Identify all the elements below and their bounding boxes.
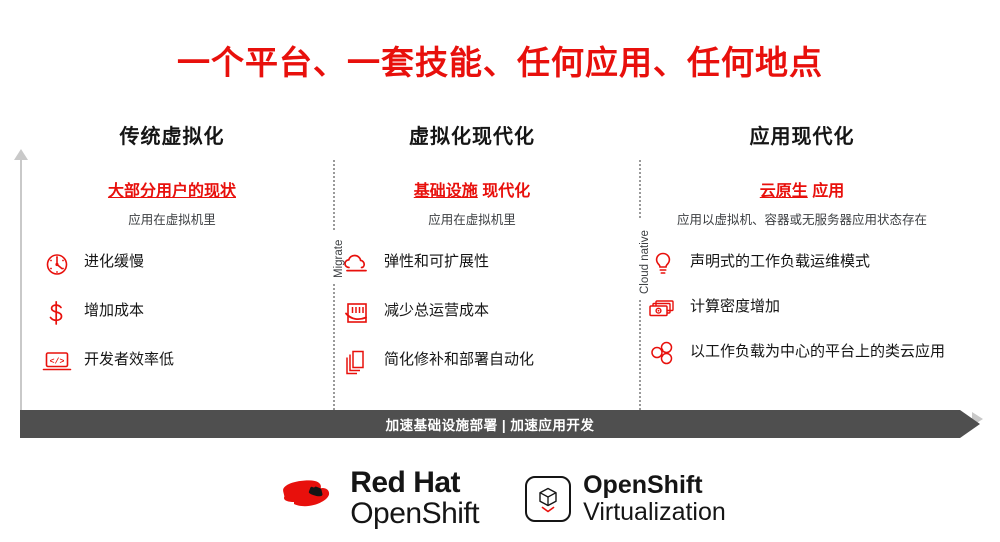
- column-subtitle: 大部分用户的现状: [28, 177, 316, 201]
- list-item-label: 进化缓慢: [74, 250, 144, 272]
- redhat-logo-line2: OpenShift: [350, 499, 479, 530]
- list-item: 计算密度增加: [646, 295, 976, 324]
- column-heading: 传统虚拟化: [28, 120, 316, 149]
- logo-row: Red Hat OpenShift OpenShift Virtualizati…: [0, 455, 1000, 542]
- redhat-openshift-logo: Red Hat OpenShift: [274, 468, 479, 529]
- progress-banner-arrowhead: [960, 410, 980, 438]
- progress-banner: 加速基础设施部署 | 加速应用开发: [20, 410, 960, 438]
- list-item: 声明式的工作负载运维模式: [646, 250, 976, 279]
- list-item-label: 增加成本: [74, 299, 144, 321]
- list-item: 弹性和可扩展性: [340, 250, 616, 279]
- maturity-columns: 传统虚拟化 大部分用户的现状 应用在虚拟机里: [22, 118, 982, 408]
- svg-text:</>: </>: [50, 356, 65, 366]
- column-subtitle-underlined: 基础设施: [414, 183, 478, 200]
- list-item-label: 声明式的工作负载运维模式: [680, 250, 870, 272]
- list-item-label: 开发者效率低: [74, 348, 174, 370]
- column-description: 应用以虚拟机、容器或无服务器应用状态存在: [628, 209, 976, 228]
- divider-label-cloud-native: Cloud native: [639, 230, 651, 294]
- redhat-logo-line1: Red Hat: [350, 468, 479, 499]
- openshift-virtualization-logo: OpenShift Virtualization: [525, 472, 726, 525]
- column-virtualization-modernization: 虚拟化现代化 基础设施 现代化 应用在虚拟机里 弹性和可扩展性: [322, 118, 622, 408]
- list-item-label: 计算密度增加: [680, 295, 780, 317]
- banknotes-icon: [646, 294, 680, 324]
- column-item-list: 弹性和可扩展性 减少总运营成本: [328, 250, 616, 377]
- cost-down-chart-icon: [340, 298, 374, 328]
- column-subtitle: 基础设施 现代化: [328, 177, 616, 201]
- osv-logo-line1: OpenShift: [583, 472, 726, 498]
- redhat-openshift-wordmark: Red Hat OpenShift: [350, 468, 479, 529]
- column-description: 应用在虚拟机里: [28, 209, 316, 228]
- column-description: 应用在虚拟机里: [328, 209, 616, 228]
- dollar-icon: [40, 298, 74, 328]
- divider-migrate: [333, 160, 337, 410]
- list-item: 进化缓慢: [40, 250, 316, 279]
- redhat-fedora-icon: [274, 472, 340, 525]
- divider-label-migrate: Migrate: [333, 240, 345, 278]
- list-item: 简化修补和部署自动化: [340, 348, 616, 377]
- list-item: </> 开发者效率低: [40, 348, 316, 377]
- openshift-virtualization-wordmark: OpenShift Virtualization: [583, 472, 726, 525]
- column-subtitle-underlined: 云原生: [760, 183, 808, 200]
- list-item-label: 弹性和可扩展性: [374, 250, 489, 272]
- column-subtitle-plain: 现代化: [478, 183, 530, 200]
- column-subtitle-underlined: 大部分用户的现状: [108, 183, 236, 200]
- list-item: 以工作负载为中心的平台上的类云应用: [646, 340, 976, 369]
- column-item-list: 进化缓慢 增加成本 </>: [28, 250, 316, 377]
- column-subtitle: 云原生 应用: [628, 177, 976, 201]
- clock-icon: [40, 249, 74, 279]
- column-application-modernization: 应用现代化 云原生 应用 应用以虚拟机、容器或无服务器应用状态存在 声明式的工作…: [622, 118, 982, 408]
- code-laptop-icon: </>: [40, 347, 74, 377]
- list-item-label: 减少总运营成本: [374, 299, 489, 321]
- cloud-icon: [340, 249, 374, 279]
- column-item-list: 声明式的工作负载运维模式 计算密度增加: [628, 250, 976, 369]
- column-traditional-virtualization: 传统虚拟化 大部分用户的现状 应用在虚拟机里: [22, 118, 322, 408]
- list-item: 减少总运营成本: [340, 299, 616, 328]
- osv-logo-line2: Virtualization: [583, 499, 726, 525]
- openshift-cube-icon: [525, 476, 571, 522]
- list-item: 增加成本: [40, 299, 316, 328]
- column-heading: 虚拟化现代化: [328, 120, 616, 149]
- column-heading: 应用现代化: [628, 120, 976, 149]
- layers-icon: [340, 347, 374, 377]
- column-subtitle-plain: 应用: [808, 183, 844, 200]
- list-item-label: 以工作负载为中心的平台上的类云应用: [680, 340, 945, 362]
- nodes-cluster-icon: [646, 339, 680, 369]
- progress-banner-text: 加速基础设施部署 | 加速应用开发: [386, 414, 595, 434]
- lightbulb-icon: [646, 249, 680, 279]
- page-title: 一个平台、一套技能、任何应用、任何地点: [0, 36, 1000, 84]
- list-item-label: 简化修补和部署自动化: [374, 348, 534, 370]
